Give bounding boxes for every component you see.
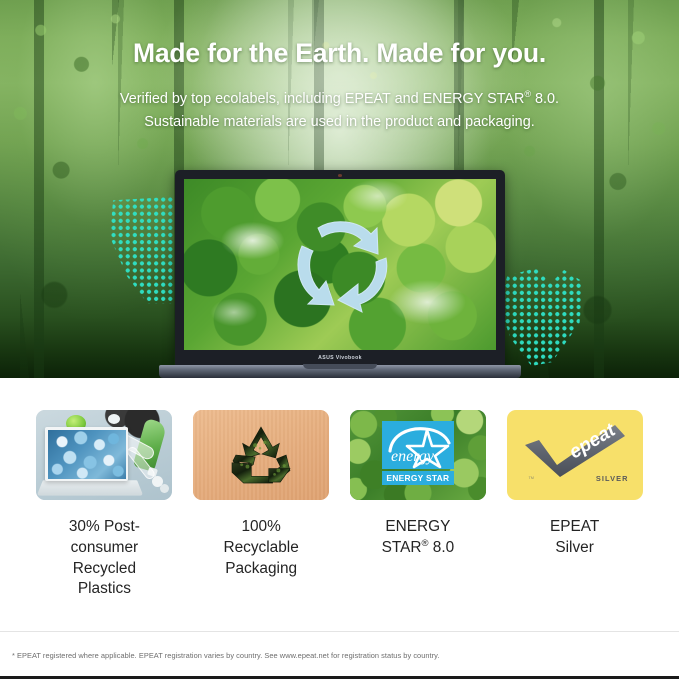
svg-text:energy: energy bbox=[391, 448, 435, 465]
badge-label-line: ENERGY bbox=[385, 518, 450, 535]
device-brand-label: ASUS Vivobook bbox=[318, 355, 362, 361]
badge-energy-star: energy ENERGY STAR ENERGY STAR® 8.0 bbox=[340, 410, 497, 631]
badge-image-recycled-plastics bbox=[36, 410, 172, 500]
recycling-symbol-icon bbox=[230, 426, 292, 484]
page-title: Made for the Earth. Made for you. bbox=[0, 38, 679, 68]
badge-label-line: consumer bbox=[71, 539, 139, 556]
recycling-arrows-icon bbox=[274, 206, 406, 324]
energy-star-glyph: energy bbox=[382, 421, 454, 469]
epeat-tier-label: SILVER bbox=[596, 474, 629, 483]
laptop-lid: ASUS Vivobook bbox=[175, 170, 505, 366]
recycled-plastic-texture-screen bbox=[48, 430, 126, 479]
laptop-keyboard-deck bbox=[37, 480, 144, 495]
epeat-tm-symbol: TM bbox=[529, 476, 534, 480]
ecolabel-badge-strip: 30% Post- consumer Recycled Plastics bbox=[0, 378, 679, 631]
hero-subtitle-line2: Sustainable materials are used in the pr… bbox=[144, 114, 534, 130]
badge-label-line: 30% Post- bbox=[69, 518, 140, 535]
badge-label-line: 100% bbox=[241, 518, 280, 535]
epeat-disclaimer-text: * EPEAT registered where applicable. EPE… bbox=[12, 652, 667, 661]
badge-image-epeat-silver: epeat TM SILVER bbox=[507, 410, 643, 500]
laptop-thumbnail bbox=[45, 427, 128, 481]
footer-disclaimer-bar: * EPEAT registered where applicable. EPE… bbox=[0, 631, 679, 679]
hero-copy-block: Made for the Earth. Made for you. Verifi… bbox=[0, 0, 679, 133]
laptop-screen bbox=[184, 179, 496, 350]
laptop-product-image: ASUS Vivobook bbox=[175, 170, 505, 378]
hero-banner: Made for the Earth. Made for you. Verifi… bbox=[0, 0, 679, 378]
badge-label-recyclable-packaging: 100% Recyclable Packaging bbox=[199, 517, 324, 579]
laptop-hinge-notch bbox=[303, 364, 377, 369]
hero-subtitle: Verified by top ecolabels, including EPE… bbox=[0, 88, 679, 133]
epeat-checkmark-icon: epeat bbox=[519, 423, 631, 479]
hero-subtitle-line1-text: Verified by top ecolabels, including EPE… bbox=[120, 91, 524, 107]
badge-label-version: 8.0 bbox=[428, 539, 454, 556]
badge-label-line: Recycled bbox=[73, 560, 136, 577]
energy-star-logo-icon: energy ENERGY STAR bbox=[382, 421, 454, 485]
energy-star-wordmark: ENERGY STAR bbox=[386, 473, 449, 483]
hero-subtitle-version: 8.0. bbox=[531, 91, 559, 107]
badge-label-epeat-silver: EPEAT Silver bbox=[512, 517, 637, 559]
hero-subtitle-line1: Verified by top ecolabels, including EPE… bbox=[120, 91, 559, 107]
badge-recycled-plastics: 30% Post- consumer Recycled Plastics bbox=[26, 410, 183, 631]
badge-label-line: Silver bbox=[555, 539, 593, 556]
badge-image-recyclable-packaging bbox=[193, 410, 329, 500]
badge-image-energy-star: energy ENERGY STAR bbox=[350, 410, 486, 500]
product-feature-page: Made for the Earth. Made for you. Verifi… bbox=[0, 0, 679, 679]
badge-label-line: Plastics bbox=[78, 580, 131, 597]
badge-label-line: STAR bbox=[382, 539, 422, 556]
badge-label-recycled-plastics: 30% Post- consumer Recycled Plastics bbox=[42, 517, 167, 600]
badge-label-line: EPEAT bbox=[550, 518, 599, 535]
webcam-icon bbox=[338, 174, 342, 177]
energy-star-logo-box: energy bbox=[382, 421, 454, 469]
badge-label-line: Recyclable bbox=[223, 539, 298, 556]
badge-recyclable-packaging: 100% Recyclable Packaging bbox=[183, 410, 340, 631]
badge-label-energy-star: ENERGY STAR® 8.0 bbox=[355, 517, 480, 559]
badge-epeat-silver: epeat TM SILVER EPEAT Silver bbox=[496, 410, 653, 631]
energy-star-wordmark-bar: ENERGY STAR bbox=[382, 471, 454, 485]
badge-label-line: Packaging bbox=[225, 560, 297, 577]
